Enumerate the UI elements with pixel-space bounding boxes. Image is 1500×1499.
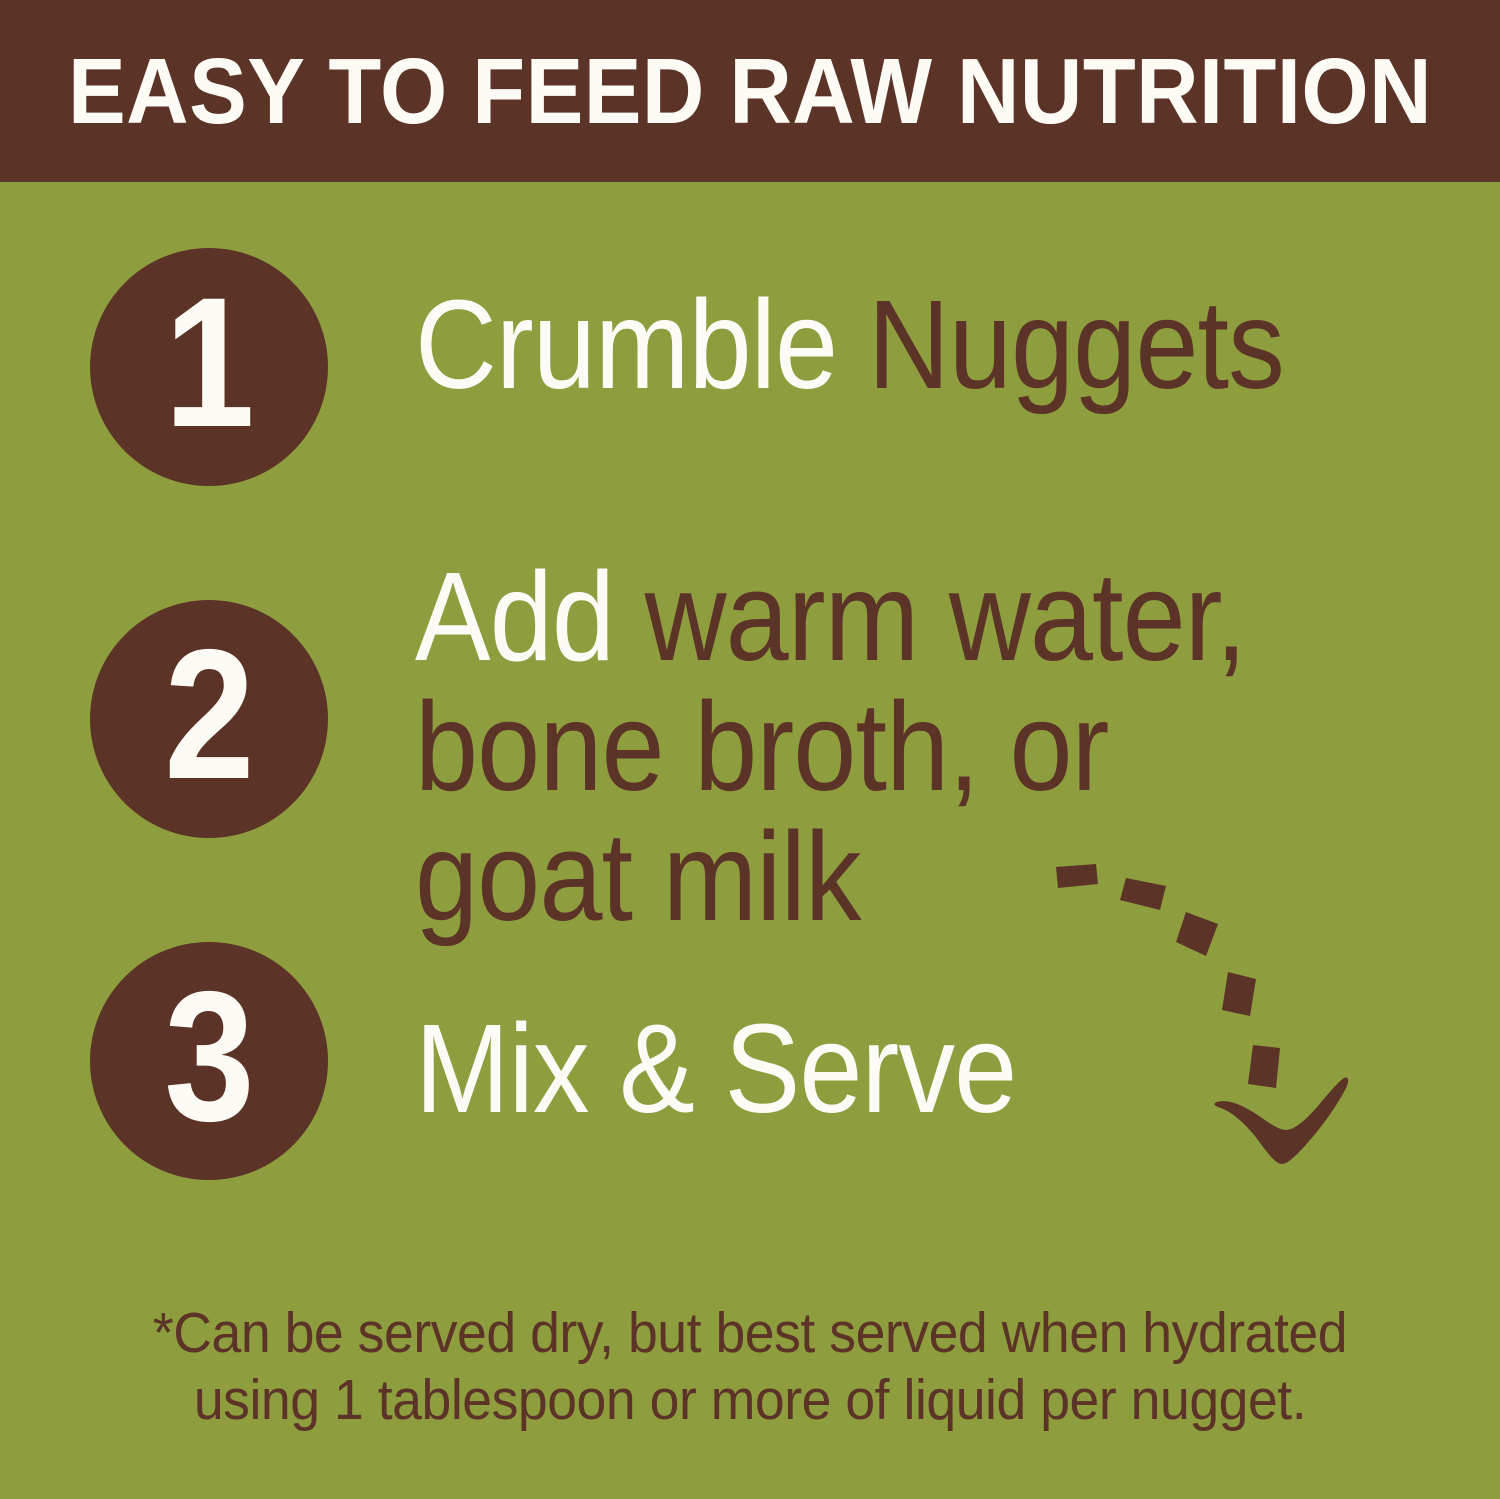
- footnote-line-2: using 1 tablespoon or more of liquid per…: [83, 1367, 1418, 1434]
- step-text-2: Add warm water, bone broth, or goat milk: [415, 552, 1369, 942]
- step-text-body: Nuggets: [868, 274, 1284, 415]
- step-number-badge-2: 2: [90, 600, 328, 838]
- footnote: *Can be served dry, but best served when…: [83, 1300, 1418, 1434]
- step-number-badge-3: 3: [90, 942, 328, 1180]
- page-title: EASY TO FEED RAW NUTRITION: [80, 0, 1419, 182]
- step-number-label: 1: [164, 271, 255, 456]
- step-text-body-line1: warm water,: [645, 546, 1246, 687]
- step-number-badge-1: 1: [90, 248, 328, 486]
- step-text-highlight: Crumble: [415, 274, 868, 415]
- step-text-body-line2: bone broth, or: [415, 676, 1108, 817]
- header-band: EASY TO FEED RAW NUTRITION: [0, 0, 1500, 182]
- step-text-3: Mix & Serve: [415, 1004, 1369, 1134]
- step-number-label: 2: [164, 623, 255, 808]
- list-item: 2 Add warm water, bone broth, or goat mi…: [0, 542, 1500, 942]
- steps-list: 1 Crumble Nuggets 2 Add warm water, bone…: [0, 182, 1500, 1242]
- product-instruction-poster: EASY TO FEED RAW NUTRITION 1 Crumble Nug…: [0, 0, 1500, 1499]
- step-number-label: 3: [164, 965, 255, 1150]
- step-text-body-line3: goat milk: [415, 806, 861, 947]
- step-text-1: Crumble Nuggets: [415, 280, 1369, 410]
- footnote-line-1: *Can be served dry, but best served when…: [83, 1300, 1418, 1367]
- step-text-highlight: Add: [415, 546, 645, 687]
- list-item: 1 Crumble Nuggets: [0, 242, 1500, 492]
- step-text-highlight: Mix & Serve: [415, 998, 1016, 1139]
- list-item: 3 Mix & Serve: [0, 942, 1500, 1192]
